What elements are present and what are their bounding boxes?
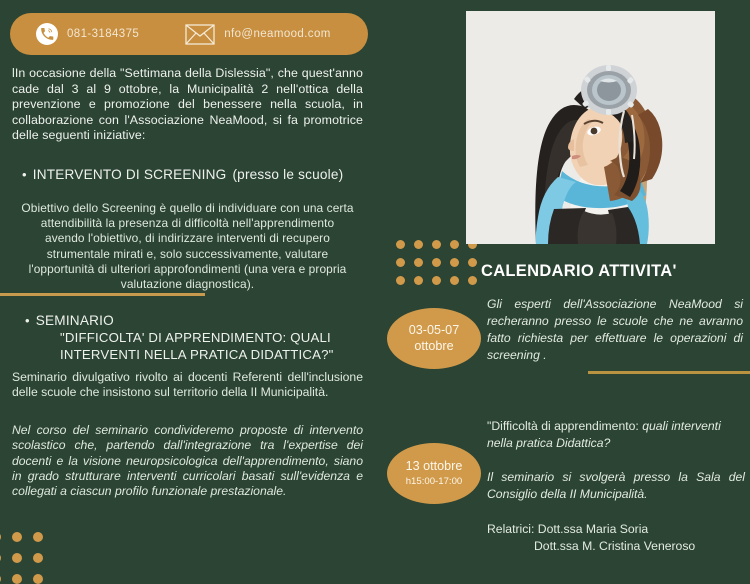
contact-phone[interactable]: 081-3184375 [36, 23, 139, 45]
speakers-block: Relatrici: Dott.ssa Maria Soria Dott.ssa… [487, 521, 745, 555]
dot-grid-bottom-left [0, 532, 43, 584]
calendar-entry-1-text: Gli esperti dell'Associazione NeaMood si… [487, 296, 743, 364]
screening-heading: • INTERVENTO DI SCREENING (presso le scu… [22, 167, 375, 182]
divider-right [588, 371, 750, 374]
seminar-description: Seminario divulgativo rivolto ai docenti… [12, 370, 363, 401]
badge-date: 03-05-07 [409, 323, 459, 339]
calendar-entry-2-text: Il seminario si svolgerà presso la Sala … [487, 469, 745, 503]
phone-icon [36, 23, 58, 45]
screening-description: Obiettivo dello Screening è quello di in… [20, 201, 355, 292]
poster-root: 081-3184375 nfo@neamood.com lIn occasion… [0, 0, 750, 579]
screening-title: INTERVENTO DI SCREENING [33, 167, 227, 182]
date-badge-seminar: 13 ottobre h15:00-17:00 [387, 443, 481, 504]
bullet-icon: • [22, 168, 27, 181]
seminar-section: • SEMINARIO "DIFFICOLTA' DI APPRENDIMENT… [0, 313, 375, 500]
left-column: lIn occasione della "Settimana della Dis… [0, 66, 375, 292]
seminar-description-2: Nel corso del seminario condivideremo pr… [12, 423, 363, 500]
calendar-title: CALENDARIO ATTIVITA' [481, 262, 677, 281]
badge-month: ottobre [414, 339, 453, 355]
divider-left [0, 293, 205, 296]
speaker-1: Relatrici: Dott.ssa Maria Soria [487, 521, 745, 538]
dot-grid-right [396, 240, 477, 285]
phone-number: 081-3184375 [67, 28, 139, 40]
screening-location: (presso le scuole) [232, 167, 343, 182]
date-badge-screening: 03-05-07 ottobre [387, 308, 481, 369]
question-plain: "Difficoltà di apprendimento: [487, 419, 642, 433]
badge-date: 13 ottobre [406, 459, 463, 475]
calendar-entry-2: "Difficoltà di apprendimento: quali inte… [487, 418, 745, 555]
child-aviator-photo [466, 11, 715, 244]
photo-frame [466, 11, 715, 244]
bullet-icon: • [25, 314, 30, 327]
seminar-title-line-1: "DIFFICOLTA' DI APPRENDIMENTO: QUALI [60, 329, 375, 346]
contact-email[interactable]: nfo@neamood.com [185, 24, 331, 45]
email-address: nfo@neamood.com [224, 28, 331, 40]
seminar-title-line-2: INTERVENTI NELLA PRATICA DIDATTICA?" [60, 346, 375, 363]
badge-time: h15:00-17:00 [406, 476, 463, 488]
intro-paragraph: lIn occasione della "Settimana della Dis… [12, 66, 363, 144]
seminar-label: SEMINARIO [36, 313, 114, 328]
envelope-icon [185, 24, 215, 45]
contact-bar: 081-3184375 nfo@neamood.com [10, 13, 368, 55]
seminar-question: "Difficoltà di apprendimento: quali inte… [487, 418, 745, 452]
speaker-2: Dott.ssa M. Cristina Veneroso [534, 538, 745, 555]
seminar-heading: • SEMINARIO [25, 313, 375, 328]
